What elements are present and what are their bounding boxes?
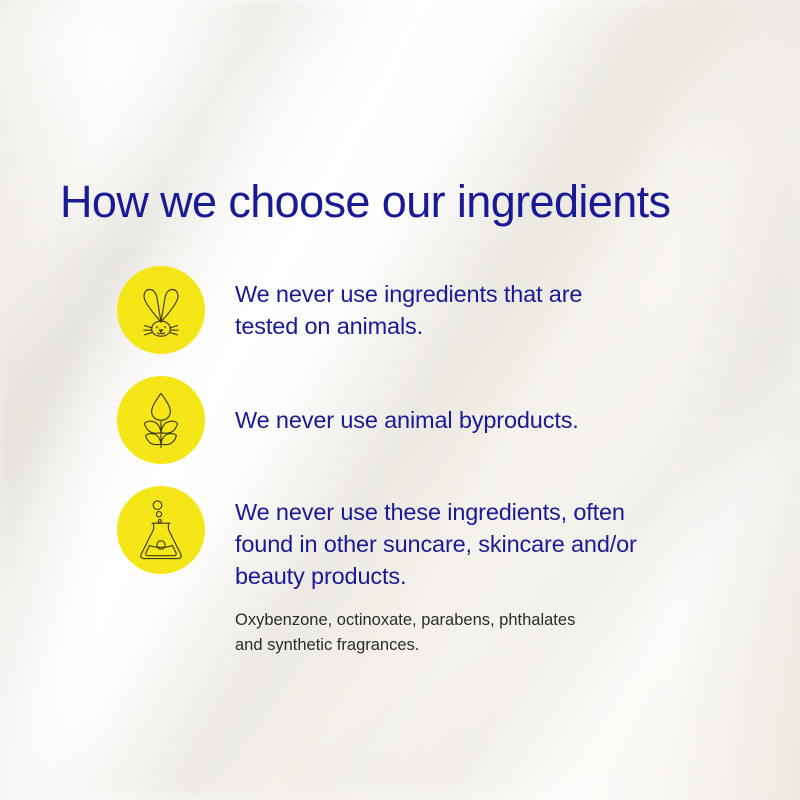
list-item-line: We never use animal byproducts. bbox=[235, 404, 735, 436]
list-item-line: found in other suncare, skincare and/or bbox=[235, 528, 735, 560]
list-item-line: We never use ingredients that are bbox=[235, 278, 735, 310]
list-item-line: We never use these ingredients, often bbox=[235, 496, 735, 528]
list-item-text: We never use these ingredients, often fo… bbox=[235, 496, 735, 592]
page-title: How we choose our ingredients bbox=[60, 176, 670, 228]
list-item-text: We never use animal byproducts. bbox=[235, 404, 735, 436]
excluded-ingredients-note: Oxybenzone, octinoxate, parabens, phthal… bbox=[235, 608, 755, 658]
plant-sprout-droplet-icon bbox=[117, 376, 205, 464]
excluded-ingredients-line: Oxybenzone, octinoxate, parabens, phthal… bbox=[235, 608, 755, 633]
excluded-ingredients-line: and synthetic fragrances. bbox=[235, 633, 755, 658]
promo-card: How we choose our ingredients bbox=[0, 0, 800, 800]
bunny-heart-ears-icon bbox=[117, 266, 205, 354]
list-item-text: We never use ingredients that are tested… bbox=[235, 278, 735, 342]
list-item-line: beauty products. bbox=[235, 560, 735, 592]
erlenmeyer-flask-bubbles-icon bbox=[117, 486, 205, 574]
list-item-line: tested on animals. bbox=[235, 310, 735, 342]
